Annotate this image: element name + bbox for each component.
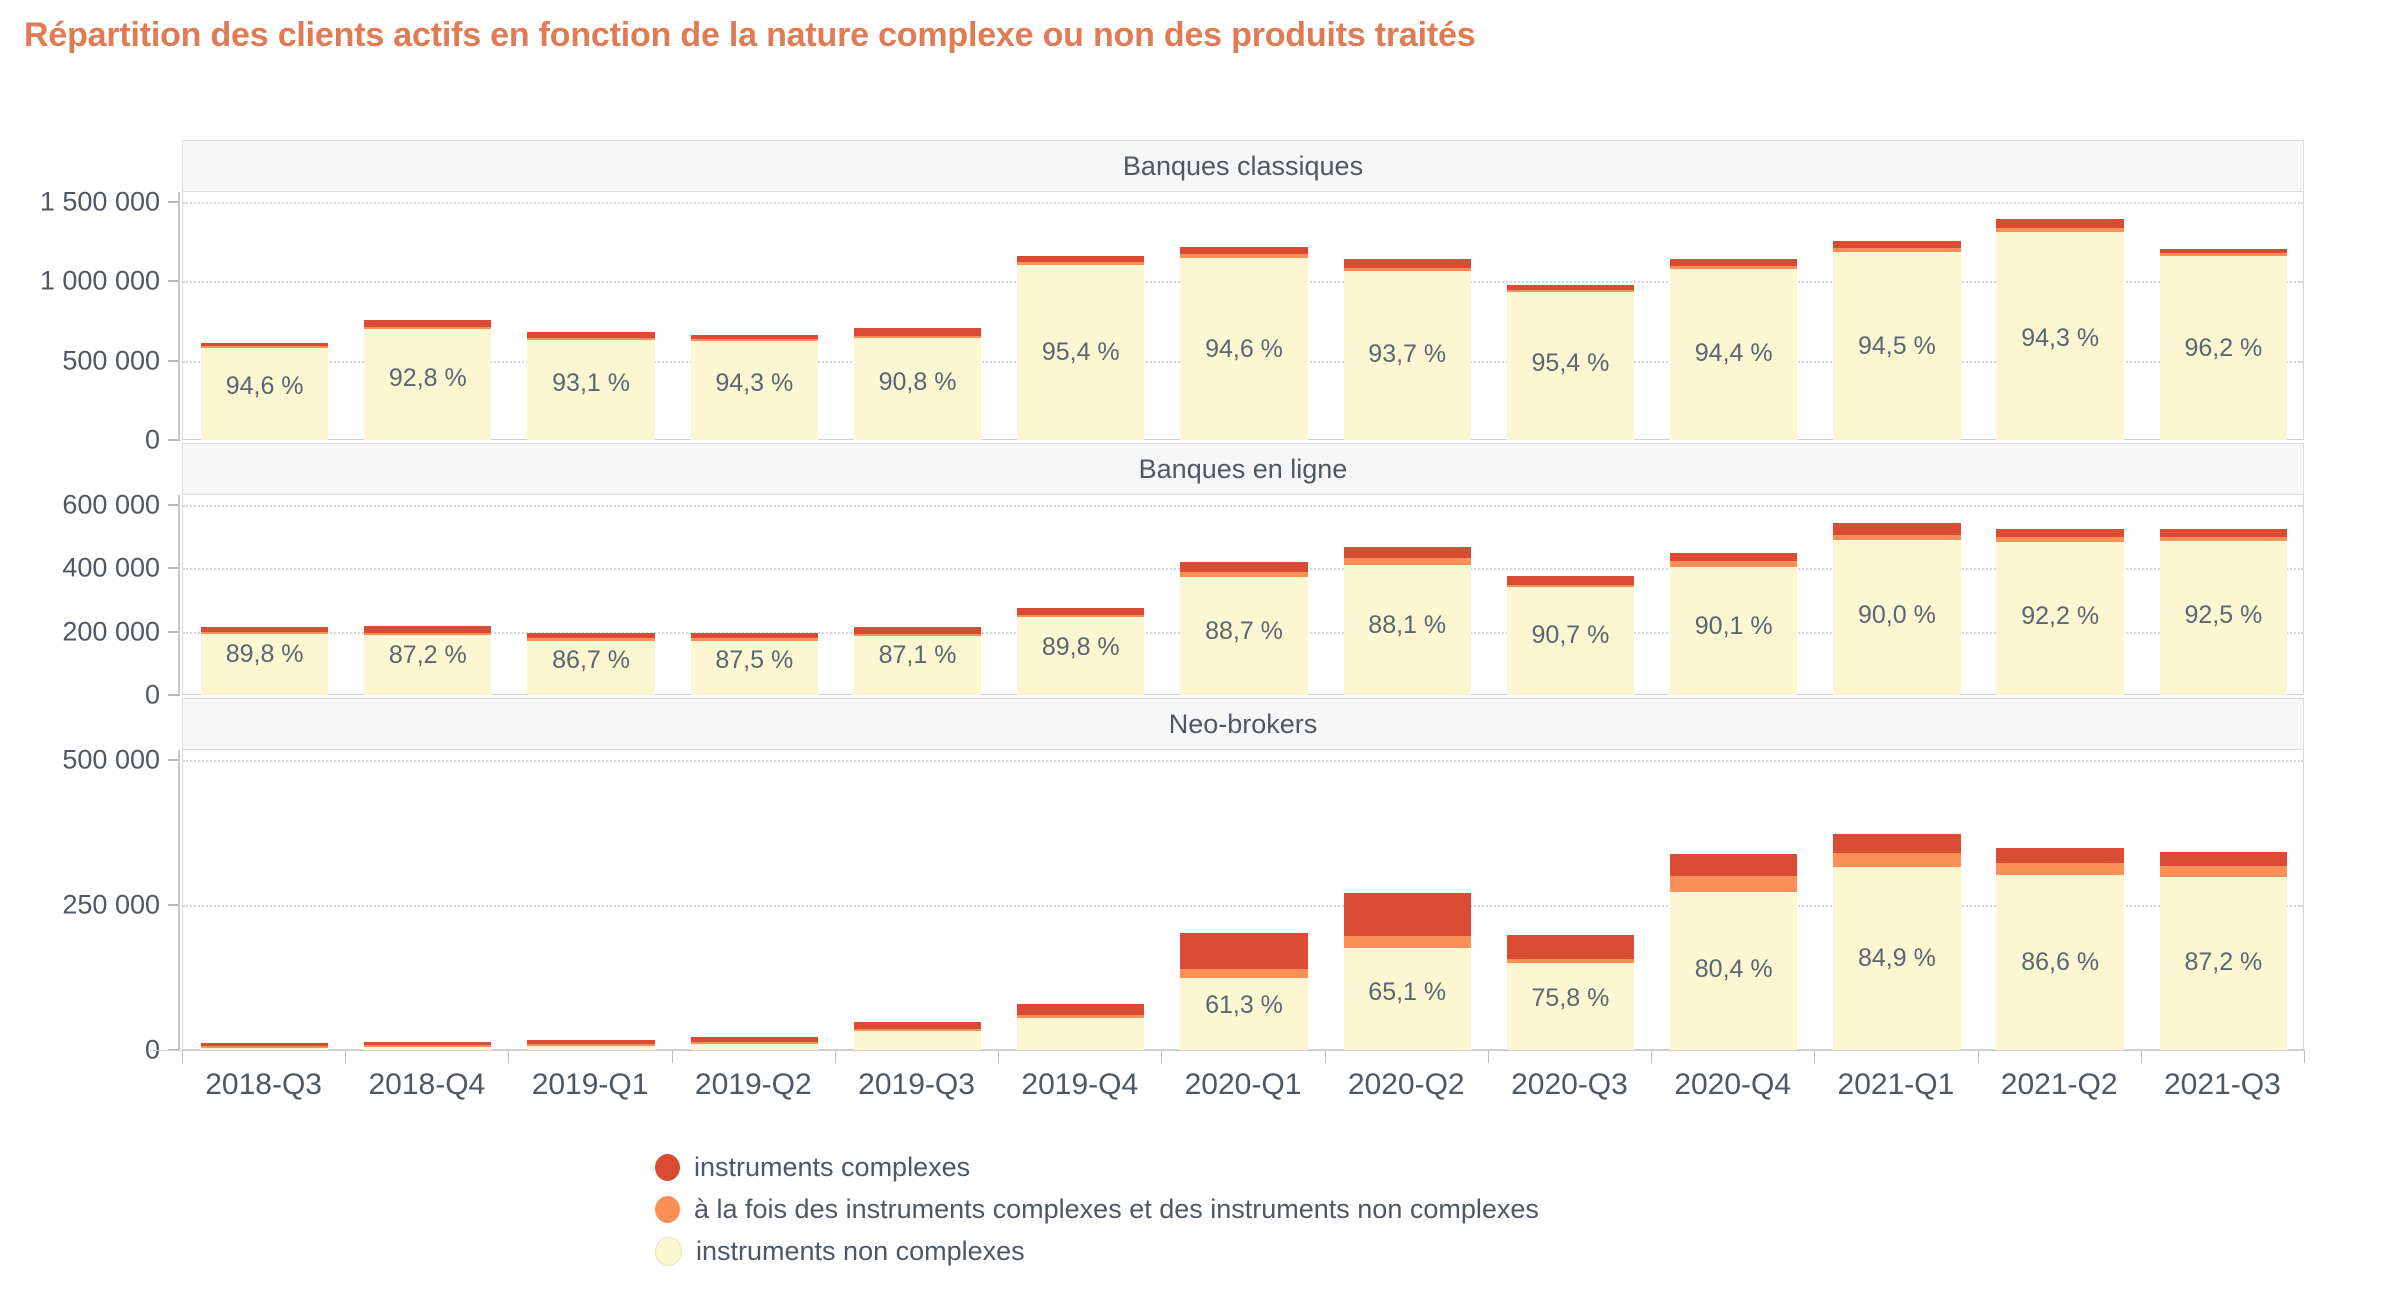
bar-banques-en-ligne-2018-Q3[interactable]: 89,8 % xyxy=(201,627,328,695)
x-tick-mark-2018-Q3 xyxy=(182,1050,183,1063)
bar-segment-complexes xyxy=(854,627,981,634)
bar-banques-en-ligne-2019-Q4[interactable]: 89,8 % xyxy=(1017,608,1144,695)
bar-segment-both xyxy=(1180,254,1307,257)
x-tick-mark-end xyxy=(2304,1050,2305,1063)
bar-data-label: 93,1 % xyxy=(527,369,654,398)
chart-root: Répartition des clients actifs en foncti… xyxy=(0,0,2394,1316)
bar-segment-complexes xyxy=(1017,608,1144,615)
x-axis-label-2020-Q1: 2020-Q1 xyxy=(1185,1068,1302,1102)
x-tick-mark-2020-Q3 xyxy=(1488,1050,1489,1063)
bar-banques-en-ligne-2020-Q3[interactable]: 90,7 % xyxy=(1507,576,1634,695)
bar-segment-both xyxy=(691,638,818,641)
y-axis-label-banques-en-ligne-600000: 600 000 xyxy=(0,490,160,521)
bar-segment-both xyxy=(1833,248,1960,252)
bar-segment-both xyxy=(527,1044,654,1046)
bar-data-label: 87,5 % xyxy=(691,646,818,675)
bar-segment-both xyxy=(1996,537,2123,541)
x-axis-label-2018-Q4: 2018-Q4 xyxy=(368,1068,485,1102)
chart-legend: instruments complexesà la fois des instr… xyxy=(655,1146,1539,1272)
bar-segment-complexes xyxy=(1017,1004,1144,1016)
y-axis-label-banques-en-ligne-200000: 200 000 xyxy=(0,616,160,647)
bar-data-label: 86,7 % xyxy=(527,646,654,675)
bar-neo-brokers-2021-Q1[interactable]: 84,9 % xyxy=(1833,834,1960,1050)
bar-data-label: 92,8 % xyxy=(364,364,491,393)
facet-strip-banques-en-ligne: Banques en ligne xyxy=(182,443,2304,495)
y-axis-line-neo-brokers xyxy=(178,750,180,1050)
bar-neo-brokers-2020-Q4[interactable]: 80,4 % xyxy=(1670,854,1797,1050)
bar-banques-classiques-2021-Q3[interactable]: 96,2 % xyxy=(2160,249,2287,440)
x-tick-mark-2019-Q2 xyxy=(672,1050,673,1063)
bar-segment-both xyxy=(1180,572,1307,578)
bar-segment-both xyxy=(1507,585,1634,588)
bar-data-label: 94,6 % xyxy=(201,372,328,401)
bar-segment-both xyxy=(2160,253,2287,256)
bar-data-label: 94,6 % xyxy=(1180,335,1307,364)
bar-data-label: 92,2 % xyxy=(1996,602,2123,631)
bar-segment-complexes xyxy=(1670,854,1797,876)
bar-segment-both xyxy=(1344,936,1471,948)
bar-data-label: 90,8 % xyxy=(854,368,981,397)
bar-segment-complexes xyxy=(1344,893,1471,935)
bar-data-label: 94,3 % xyxy=(1996,324,2123,353)
bar-segment-complexes xyxy=(1670,553,1797,561)
bar-banques-en-ligne-2020-Q2[interactable]: 88,1 % xyxy=(1344,547,1471,695)
bar-segment-complexes xyxy=(527,1040,654,1043)
bar-segment-complexes xyxy=(1344,547,1471,558)
bar-segment-complexes xyxy=(1833,523,1960,535)
bar-data-label: 87,1 % xyxy=(854,641,981,670)
bar-segment-both xyxy=(527,638,654,641)
bar-segment-both xyxy=(364,327,491,329)
bar-segment-complexes xyxy=(1670,259,1797,266)
bar-segment-complexes xyxy=(854,328,981,336)
bar-segment-both xyxy=(364,633,491,635)
bar-data-label: 80,4 % xyxy=(1670,955,1797,984)
x-axis-label-2020-Q4: 2020-Q4 xyxy=(1674,1068,1791,1102)
facet-strip-neo-brokers: Neo-brokers xyxy=(182,698,2304,750)
bar-segment-both xyxy=(854,634,981,636)
y-axis-label-neo-brokers-500000: 500 000 xyxy=(0,745,160,776)
x-axis: 2018-Q32018-Q42019-Q12019-Q22019-Q32019-… xyxy=(182,1050,2304,1110)
x-tick-mark-2020-Q4 xyxy=(1651,1050,1652,1063)
bar-banques-en-ligne-2020-Q1[interactable]: 88,7 % xyxy=(1180,562,1307,695)
bar-banques-en-ligne-2021-Q2[interactable]: 92,2 % xyxy=(1996,529,2123,695)
bar-segment-complexes xyxy=(1996,219,2123,228)
bar-banques-en-ligne-2021-Q3[interactable]: 92,5 % xyxy=(2160,529,2287,695)
bar-segment-complexes xyxy=(854,1022,981,1030)
plot-panel-neo-brokers: 61,3 %65,1 %75,8 %80,4 %84,9 %86,6 %87,2… xyxy=(182,750,2304,1050)
bar-segment-both xyxy=(2160,537,2287,541)
x-axis-label-2019-Q2: 2019-Q2 xyxy=(695,1068,812,1102)
x-tick-mark-2021-Q1 xyxy=(1814,1050,1815,1063)
x-tick-mark-2019-Q4 xyxy=(998,1050,999,1063)
bar-segment-complexes xyxy=(527,332,654,338)
bar-data-label: 61,3 % xyxy=(1180,991,1307,1020)
bar-segment-complexes xyxy=(691,1037,818,1042)
legend-label-non_complexes: instruments non complexes xyxy=(696,1236,1025,1267)
bar-banques-classiques-2020-Q4[interactable]: 94,4 % xyxy=(1670,259,1797,440)
bar-segment-both xyxy=(1833,535,1960,540)
gridline-banques-classiques-1500000 xyxy=(183,202,2303,204)
bar-segment-complexes xyxy=(364,1042,491,1045)
bar-neo-brokers-2020-Q2[interactable]: 65,1 % xyxy=(1344,893,1471,1050)
y-axis-label-banques-classiques-0: 0 xyxy=(0,425,160,456)
bar-segment-both xyxy=(691,339,818,341)
bar-data-label: 94,3 % xyxy=(691,369,818,398)
x-axis-label-2019-Q1: 2019-Q1 xyxy=(532,1068,649,1102)
x-axis-label-2020-Q2: 2020-Q2 xyxy=(1348,1068,1465,1102)
bar-segment-both xyxy=(1670,876,1797,892)
bar-neo-brokers-2021-Q2[interactable]: 86,6 % xyxy=(1996,848,2123,1050)
bar-segment-complexes xyxy=(364,320,491,327)
facet-banques-classiques: Banques classiques94,6 %92,8 %93,1 %94,3… xyxy=(182,140,2304,440)
bar-segment-both xyxy=(2160,866,2287,877)
bar-data-label: 95,4 % xyxy=(1017,338,1144,367)
bar-segment-both xyxy=(201,346,328,348)
bar-neo-brokers-2019-Q2[interactable] xyxy=(691,1038,818,1050)
bar-segment-both xyxy=(1344,268,1471,271)
y-axis-line-banques-en-ligne xyxy=(178,495,180,695)
bar-segment-both xyxy=(1180,969,1307,978)
facet-container: Banques classiques94,6 %92,8 %93,1 %94,3… xyxy=(0,0,2394,1316)
facet-title-banques-classiques: Banques classiques xyxy=(1123,151,1363,182)
bar-segment-both xyxy=(1996,228,2123,232)
y-axis-label-neo-brokers-0: 0 xyxy=(0,1035,160,1066)
bar-segment-complexes xyxy=(1996,848,2123,863)
bar-data-label: 89,8 % xyxy=(201,640,328,669)
legend-swatch-non_complexes-icon xyxy=(655,1237,682,1266)
x-tick-mark-2020-Q1 xyxy=(1161,1050,1162,1063)
y-axis-label-neo-brokers-250000: 250 000 xyxy=(0,890,160,921)
bar-banques-en-ligne-2021-Q1[interactable]: 90,0 % xyxy=(1833,523,1960,695)
bar-banques-classiques-2019-Q4[interactable]: 95,4 % xyxy=(1017,256,1144,440)
x-axis-label-2020-Q3: 2020-Q3 xyxy=(1511,1068,1628,1102)
bar-segment-complexes xyxy=(1180,933,1307,970)
bar-segment-complexes xyxy=(1344,259,1471,267)
legend-item-both[interactable]: à la fois des instruments complexes et d… xyxy=(655,1188,1539,1230)
bar-segment-both xyxy=(1670,561,1797,567)
bar-segment-complexes xyxy=(1507,285,1634,291)
bar-segment-both xyxy=(1833,853,1960,867)
plot-panel-banques-classiques: 94,6 %92,8 %93,1 %94,3 %90,8 %95,4 %94,6… xyxy=(182,192,2304,440)
bar-data-label: 75,8 % xyxy=(1507,984,1634,1013)
gridline-neo-brokers-500000 xyxy=(183,760,2303,762)
bar-banques-classiques-2020-Q3[interactable]: 95,4 % xyxy=(1507,285,1634,440)
bar-segment-both xyxy=(691,1042,818,1044)
bar-segment-non-complexes xyxy=(854,1031,981,1050)
bar-segment-complexes xyxy=(201,627,328,633)
bar-segment-complexes xyxy=(1833,834,1960,853)
x-axis-label-2021-Q1: 2021-Q1 xyxy=(1838,1068,1955,1102)
legend-item-complexes[interactable]: instruments complexes xyxy=(655,1146,1539,1188)
facet-banques-en-ligne: Banques en ligne89,8 %87,2 %86,7 %87,5 %… xyxy=(182,443,2304,695)
bar-segment-both xyxy=(854,336,981,338)
bar-segment-complexes xyxy=(2160,529,2287,538)
bar-banques-classiques-2019-Q2[interactable]: 94,3 % xyxy=(691,335,818,440)
bar-banques-en-ligne-2019-Q3[interactable]: 87,1 % xyxy=(854,628,981,695)
bar-segment-complexes xyxy=(1017,256,1144,262)
gridline-neo-brokers-250000 xyxy=(183,905,2303,907)
bar-data-label: 87,2 % xyxy=(364,641,491,670)
bar-segment-both xyxy=(364,1045,491,1047)
x-axis-label-2021-Q3: 2021-Q3 xyxy=(2164,1068,2281,1102)
bar-banques-classiques-2019-Q3[interactable]: 90,8 % xyxy=(854,328,981,440)
bar-neo-brokers-2020-Q3[interactable]: 75,8 % xyxy=(1507,935,1634,1050)
x-tick-mark-2020-Q2 xyxy=(1325,1050,1326,1063)
y-axis-label-banques-classiques-1000000: 1 000 000 xyxy=(0,266,160,297)
bar-data-label: 86,6 % xyxy=(1996,948,2123,977)
bar-segment-complexes xyxy=(201,343,328,347)
y-axis-line-banques-classiques xyxy=(178,192,180,440)
bar-banques-en-ligne-2019-Q2[interactable]: 87,5 % xyxy=(691,633,818,695)
bar-neo-brokers-2019-Q3[interactable] xyxy=(854,1022,981,1050)
bar-segment-complexes xyxy=(1833,241,1960,248)
legend-swatch-complexes-icon xyxy=(655,1154,680,1181)
bar-data-label: 92,5 % xyxy=(2160,601,2287,630)
x-axis-label-2021-Q2: 2021-Q2 xyxy=(2001,1068,2118,1102)
bar-segment-complexes xyxy=(527,633,654,638)
facet-title-neo-brokers: Neo-brokers xyxy=(1169,709,1318,740)
bar-banques-en-ligne-2018-Q4[interactable]: 87,2 % xyxy=(364,627,491,695)
bar-banques-en-ligne-2020-Q4[interactable]: 90,1 % xyxy=(1670,553,1797,695)
bar-banques-classiques-2019-Q1[interactable]: 93,1 % xyxy=(527,333,654,440)
bar-data-label: 94,5 % xyxy=(1833,332,1960,361)
bar-segment-both xyxy=(1507,290,1634,292)
bar-banques-en-ligne-2019-Q1[interactable]: 86,7 % xyxy=(527,633,654,695)
bar-banques-classiques-2020-Q1[interactable]: 94,6 % xyxy=(1180,247,1307,440)
bar-data-label: 87,2 % xyxy=(2160,948,2287,977)
bar-segment-complexes xyxy=(1180,247,1307,254)
bar-segment-non-complexes xyxy=(1017,1018,1144,1050)
bar-segment-complexes xyxy=(2160,249,2287,254)
x-tick-mark-2018-Q4 xyxy=(345,1050,346,1063)
facet-title-banques-en-ligne: Banques en ligne xyxy=(1139,454,1348,485)
bar-segment-complexes xyxy=(691,633,818,638)
bar-data-label: 88,7 % xyxy=(1180,617,1307,646)
bar-data-label: 65,1 % xyxy=(1344,978,1471,1007)
bar-segment-complexes xyxy=(364,626,491,633)
bar-neo-brokers-2019-Q4[interactable] xyxy=(1017,1004,1144,1050)
legend-swatch-both-icon xyxy=(655,1196,680,1223)
bar-neo-brokers-2020-Q1[interactable]: 61,3 % xyxy=(1180,933,1307,1050)
bar-data-label: 96,2 % xyxy=(2160,334,2287,363)
bar-data-label: 94,4 % xyxy=(1670,339,1797,368)
bar-banques-classiques-2020-Q2[interactable]: 93,7 % xyxy=(1344,259,1471,440)
bar-data-label: 90,0 % xyxy=(1833,601,1960,630)
x-tick-mark-2019-Q3 xyxy=(835,1050,836,1063)
bar-segment-both xyxy=(1996,863,2123,876)
bar-segment-both xyxy=(854,1029,981,1031)
bar-segment-complexes xyxy=(1996,529,2123,538)
facet-strip-banques-classiques: Banques classiques xyxy=(182,140,2304,192)
facet-neo-brokers: Neo-brokers61,3 %65,1 %75,8 %80,4 %84,9 … xyxy=(182,698,2304,1050)
bar-data-label: 93,7 % xyxy=(1344,340,1471,369)
bar-segment-both xyxy=(1017,615,1144,617)
bar-segment-complexes xyxy=(2160,852,2287,867)
y-axis-label-banques-en-ligne-0: 0 xyxy=(0,680,160,711)
x-axis-label-2019-Q3: 2019-Q3 xyxy=(858,1068,975,1102)
bar-data-label: 89,8 % xyxy=(1017,633,1144,662)
x-tick-mark-2019-Q1 xyxy=(508,1050,509,1063)
gridline-banques-en-ligne-600000 xyxy=(183,505,2303,507)
legend-label-complexes: instruments complexes xyxy=(694,1152,970,1183)
bar-segment-both xyxy=(1670,266,1797,269)
bar-segment-both xyxy=(201,1046,328,1048)
bar-neo-brokers-2021-Q3[interactable]: 87,2 % xyxy=(2160,852,2287,1050)
y-axis-label-banques-en-ligne-400000: 400 000 xyxy=(0,553,160,584)
bar-segment-both xyxy=(527,338,654,340)
x-tick-mark-2021-Q2 xyxy=(1978,1050,1979,1063)
bar-segment-both xyxy=(1017,1015,1144,1017)
bar-data-label: 90,1 % xyxy=(1670,612,1797,641)
x-axis-label-2019-Q4: 2019-Q4 xyxy=(1021,1068,1138,1102)
bar-segment-both xyxy=(201,632,328,634)
bar-neo-brokers-2019-Q1[interactable] xyxy=(527,1042,654,1050)
bar-data-label: 84,9 % xyxy=(1833,944,1960,973)
bar-segment-complexes xyxy=(1180,562,1307,571)
bar-banques-classiques-2021-Q2[interactable]: 94,3 % xyxy=(1996,219,2123,440)
bar-banques-classiques-2021-Q1[interactable]: 94,5 % xyxy=(1833,241,1960,440)
x-axis-label-2018-Q3: 2018-Q3 xyxy=(205,1068,322,1102)
bar-segment-complexes xyxy=(1507,935,1634,959)
bar-segment-complexes xyxy=(691,335,818,339)
x-tick-mark-2021-Q3 xyxy=(2141,1050,2142,1063)
x-axis-line xyxy=(150,1050,2304,1051)
legend-label-both: à la fois des instruments complexes et d… xyxy=(694,1194,1539,1225)
bar-data-label: 95,4 % xyxy=(1507,349,1634,378)
bar-segment-complexes xyxy=(1507,576,1634,585)
y-axis-label-banques-classiques-500000: 500 000 xyxy=(0,345,160,376)
bar-data-label: 90,7 % xyxy=(1507,621,1634,650)
bar-data-label: 88,1 % xyxy=(1344,611,1471,640)
legend-item-non_complexes[interactable]: instruments non complexes xyxy=(655,1230,1539,1272)
bar-banques-classiques-2018-Q4[interactable]: 92,8 % xyxy=(364,320,491,440)
plot-panel-banques-en-ligne: 89,8 %87,2 %86,7 %87,5 %87,1 %89,8 %88,7… xyxy=(182,495,2304,695)
y-axis-label-banques-classiques-1500000: 1 500 000 xyxy=(0,187,160,218)
bar-segment-both xyxy=(1507,959,1634,963)
bar-segment-both xyxy=(1344,558,1471,565)
bar-segment-both xyxy=(1017,262,1144,265)
bar-segment-complexes xyxy=(201,1043,328,1046)
bar-banques-classiques-2018-Q3[interactable]: 94,6 % xyxy=(201,343,328,440)
